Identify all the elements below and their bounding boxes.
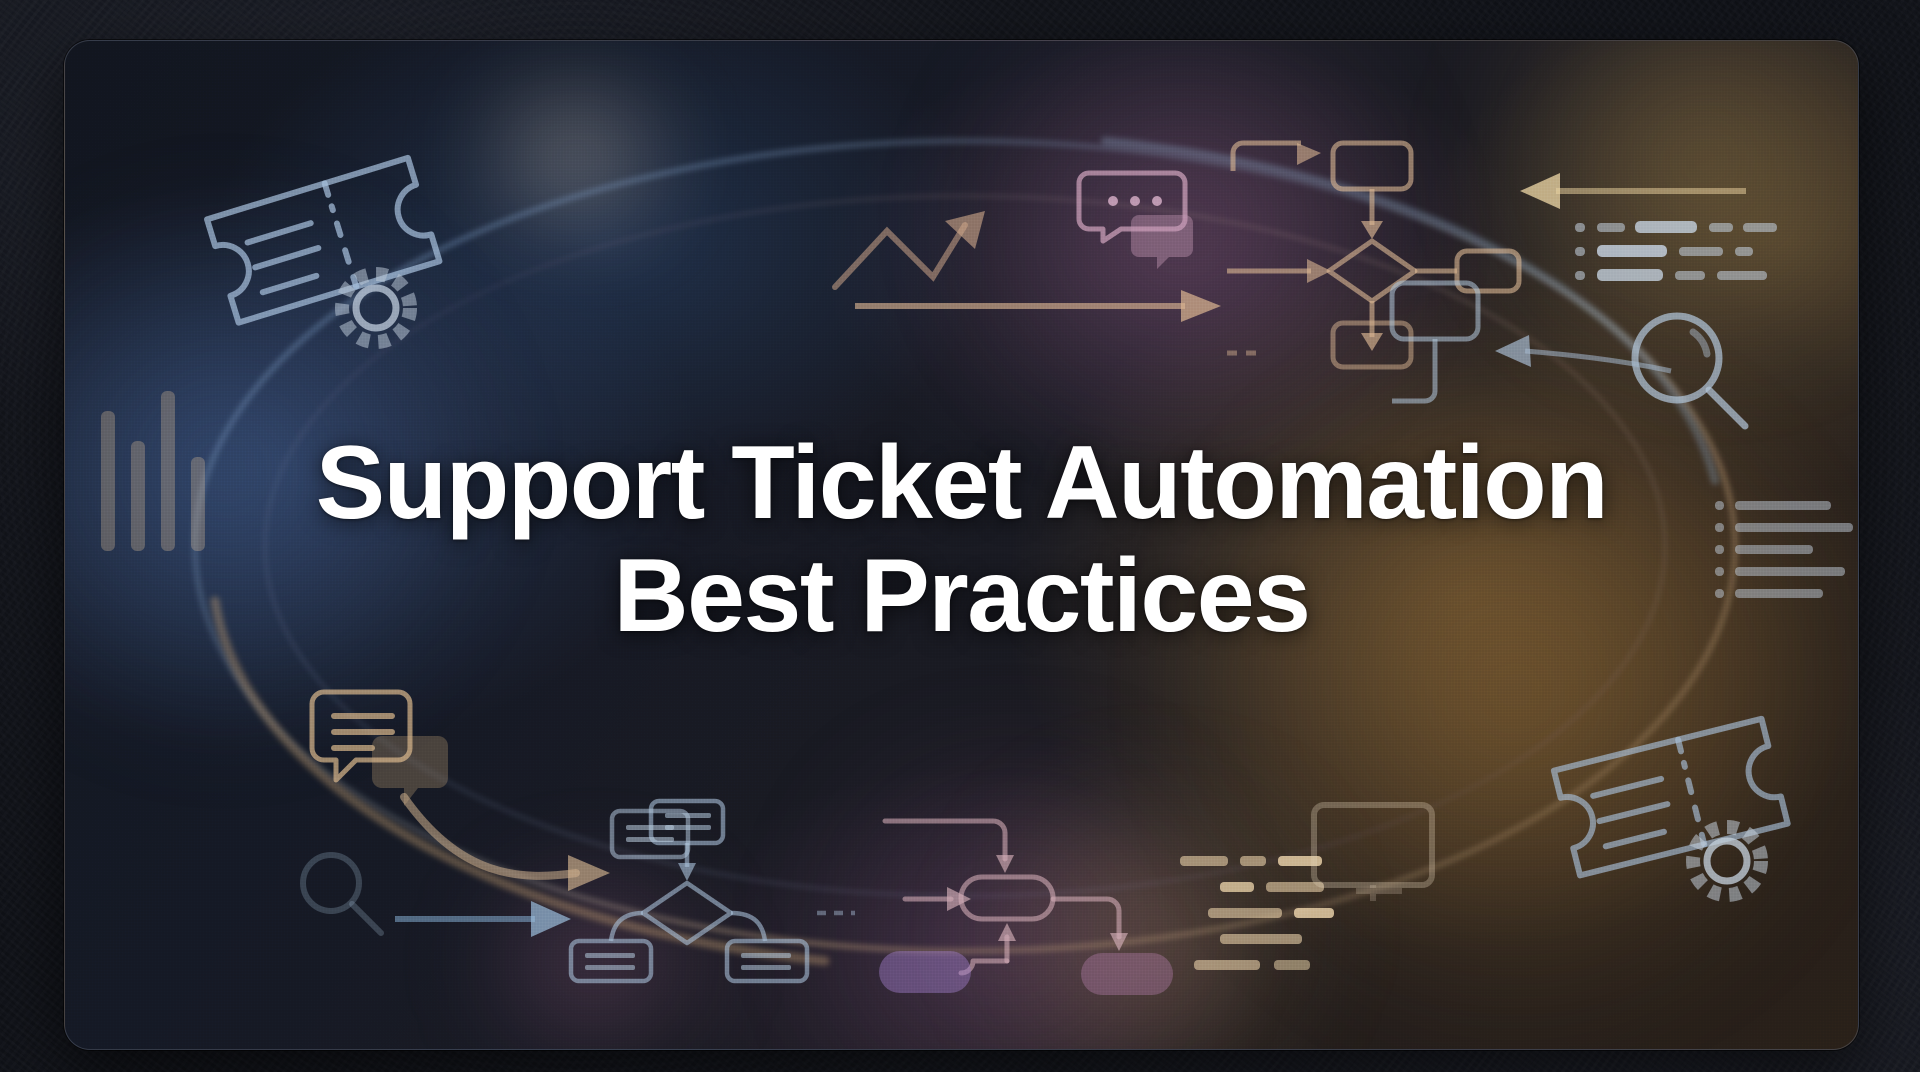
bloom-gold-topright	[1445, 40, 1859, 371]
list-lines-icon-top-right	[1575, 221, 1795, 301]
chat-bubbles-icon-top-center	[1077, 161, 1207, 271]
bloom-white-streak	[445, 91, 705, 221]
bloom-pink-bottom	[445, 871, 745, 1050]
arrow-right-icon-top-center	[855, 286, 1225, 326]
bloom-violet-bottom	[755, 741, 1275, 1050]
bloom-warm-bottomcenter	[945, 781, 1365, 1050]
arrow-left-icon-top-right	[1520, 169, 1750, 213]
page-title-line-2: Best Practices	[65, 540, 1858, 653]
ticket-gear-icon-bottom-right	[1535, 671, 1825, 936]
page-title: Support Ticket Automation Best Practices	[65, 427, 1858, 654]
magnifier-icon-right	[1625, 306, 1755, 436]
bloom-violet-top	[925, 40, 1445, 461]
arrow-right-icon-bottom-left	[395, 896, 575, 942]
arrow-curve-icon-top-left	[825, 191, 1025, 301]
hero-card: Support Ticket Automation Best Practices	[64, 40, 1859, 1050]
flowchart-diagram-bottom-left	[565, 801, 865, 981]
arrow-left-icon-right-mid	[1495, 321, 1675, 381]
node-box-icon-bottom-center	[610, 809, 700, 869]
code-lines-icon-bottom-right	[1180, 856, 1400, 996]
page-title-line-1: Support Ticket Automation	[65, 427, 1858, 540]
ticket-gear-icon-top-left	[180, 116, 470, 381]
pill-flow-diagram-bottom-center	[885, 811, 1265, 1021]
page-backdrop: Support Ticket Automation Best Practices	[0, 0, 1920, 1072]
monitor-icon-bottom-center	[1310, 801, 1450, 921]
magnifier-icon-bottom-left	[297, 849, 387, 939]
arrow-curve-icon-bottom-left	[400, 781, 620, 891]
node-box-icon-right	[1390, 281, 1510, 421]
flowchart-diagram-top-right	[1225, 141, 1545, 371]
chat-bubbles-icon-bottom-left	[310, 686, 460, 806]
